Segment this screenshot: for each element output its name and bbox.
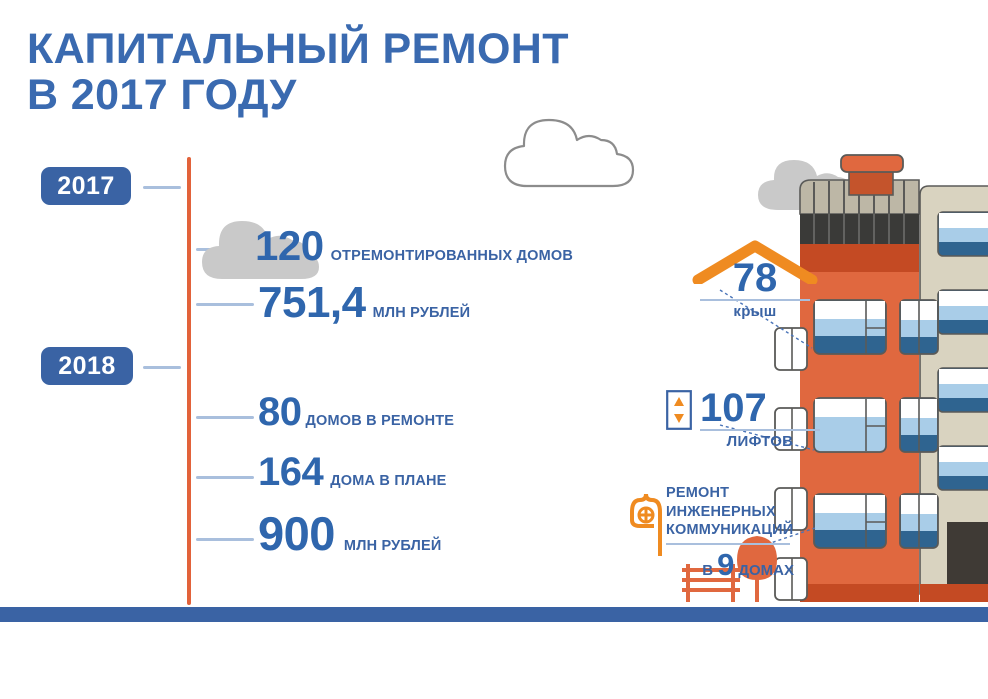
year-badge-2018[interactable]: 2018 (41, 347, 133, 385)
callout-utilities-count-row: В 9 ДОМАХ (666, 547, 794, 583)
stat-repaired-houses-number: 120 (255, 222, 324, 270)
timeline-tick (196, 303, 254, 306)
stat-budget-2017: 751,4 МЛН РУБЛЕЙ (258, 278, 470, 328)
callout-utilities: РЕМОНТ ИНЖЕНЕРНЫХ КОММУНИКАЦИЙ В 9 ДОМАХ (666, 484, 794, 583)
stat-repaired-houses: 120 ОТРЕМОНТИРОВАННЫХ ДОМОВ (255, 222, 573, 270)
callout-lifts-number: 107 (700, 388, 820, 428)
page-title: КАПИТАЛЬНЫЙ РЕМОНТ В 2017 ГОДУ (27, 26, 647, 118)
pipe-valve-icon (624, 482, 668, 563)
stat-houses-planned: 164 ДОМА В ПЛАНЕ (258, 450, 447, 495)
elevator-icon (666, 390, 692, 435)
year-badge-2017-label: 2017 (57, 172, 115, 201)
stat-budget-2017-number: 751,4 (258, 278, 366, 328)
stat-houses-planned-label: ДОМА В ПЛАНЕ (330, 473, 446, 489)
timeline-axis (187, 157, 191, 605)
timeline-tick (143, 186, 181, 189)
callout-roofs: 78 крыш (700, 258, 810, 320)
callout-utilities-prefix: В (702, 562, 713, 579)
timeline-tick (143, 366, 181, 369)
ground-bar (0, 607, 988, 622)
bottom-summary-strip: 37 ТЫСЯЧ ЧЕЛОВЕК 52 ПОДРЯДНЫЕ ОРГАНИЗАЦИ… (0, 630, 988, 699)
callout-lifts: 107 ЛИФТОВ (700, 388, 820, 450)
infographic-canvas: КАПИТАЛЬНЫЙ РЕМОНТ В 2017 ГОДУ 2017 2018… (0, 0, 988, 699)
timeline-tick (196, 476, 254, 479)
stat-houses-planned-number: 164 (258, 450, 323, 495)
stat-budget-2018: 900 МЛН РУБЛЕЙ (258, 506, 442, 561)
stat-budget-2018-number: 900 (258, 506, 335, 561)
stat-budget-2018-label: МЛН РУБЛЕЙ (344, 538, 442, 554)
callout-lifts-label: ЛИФТОВ (700, 433, 820, 450)
callout-utilities-number: 9 (717, 547, 734, 583)
stat-budget-2017-label: МЛН РУБЛЕЙ (373, 305, 471, 321)
year-badge-2017[interactable]: 2017 (41, 167, 131, 205)
callout-utilities-suffix: ДОМАХ (738, 562, 794, 579)
callout-utilities-title-l1: РЕМОНТ (666, 485, 729, 501)
callout-utilities-title: РЕМОНТ ИНЖЕНЕРНЫХ КОММУНИКАЦИЙ (666, 484, 794, 540)
stat-repaired-houses-label: ОТРЕМОНТИРОВАННЫХ ДОМОВ (331, 248, 573, 264)
callout-utilities-underline (666, 543, 790, 545)
timeline-tick (196, 416, 254, 419)
callout-roofs-number: 78 (700, 258, 810, 298)
callout-roofs-label: крыш (700, 303, 810, 320)
callout-utilities-title-l2: ИНЖЕНЕРНЫХ (666, 504, 776, 520)
callout-utilities-title-l3: КОММУНИКАЦИЙ (666, 522, 793, 538)
stat-houses-in-repair: 80 ДОМОВ В РЕМОНТЕ (258, 390, 454, 435)
timeline-tick (196, 538, 254, 541)
stat-houses-in-repair-label: ДОМОВ В РЕМОНТЕ (306, 413, 455, 429)
stat-houses-in-repair-number: 80 (258, 390, 302, 435)
year-badge-2018-label: 2018 (58, 352, 116, 381)
title-line-1: КАПИТАЛЬНЫЙ РЕМОНТ (27, 25, 569, 73)
